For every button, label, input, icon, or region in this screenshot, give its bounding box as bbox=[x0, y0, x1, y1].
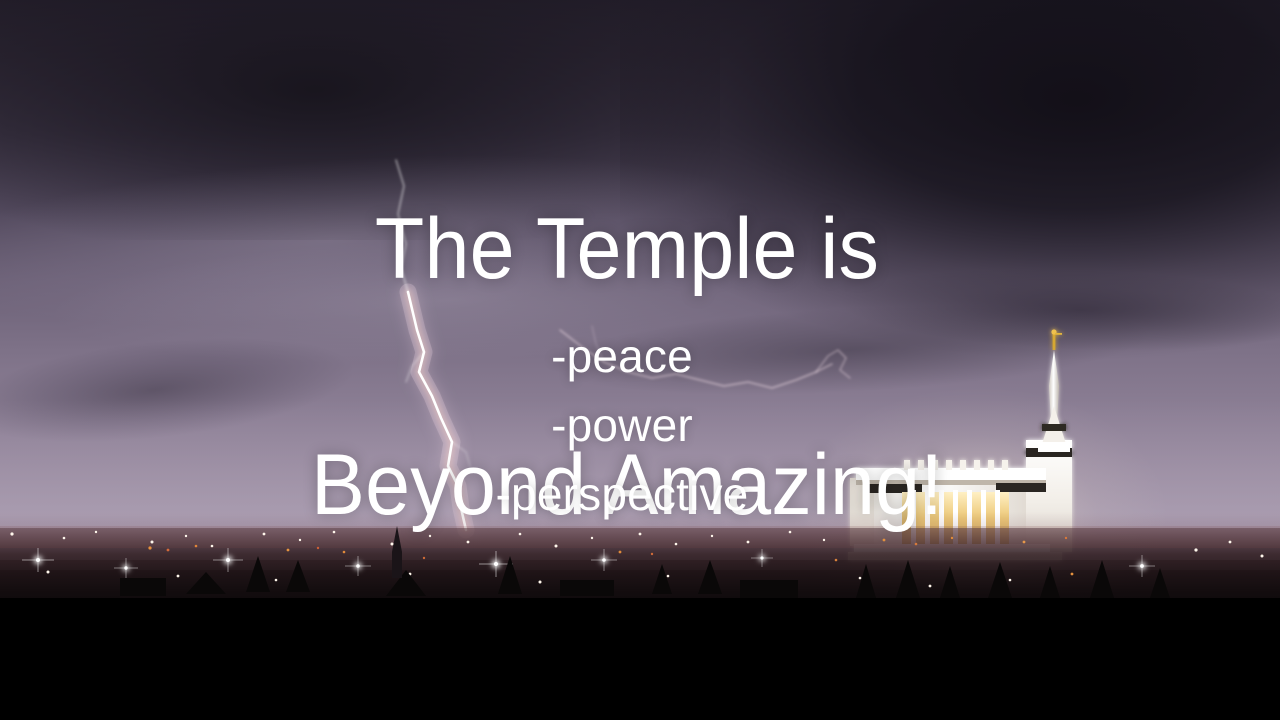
slide-bullet-list: -peace -power -perspective bbox=[0, 322, 1244, 529]
bullet-item-perspective: -perspective bbox=[0, 460, 1244, 529]
bullet-item-peace: -peace bbox=[0, 322, 1244, 391]
bullet-item-power: -power bbox=[0, 391, 1244, 460]
presentation-slide: The Temple is Beyond Amazing! -peace -po… bbox=[0, 0, 1280, 720]
slide-title-line-1: The Temple is bbox=[38, 190, 1217, 308]
